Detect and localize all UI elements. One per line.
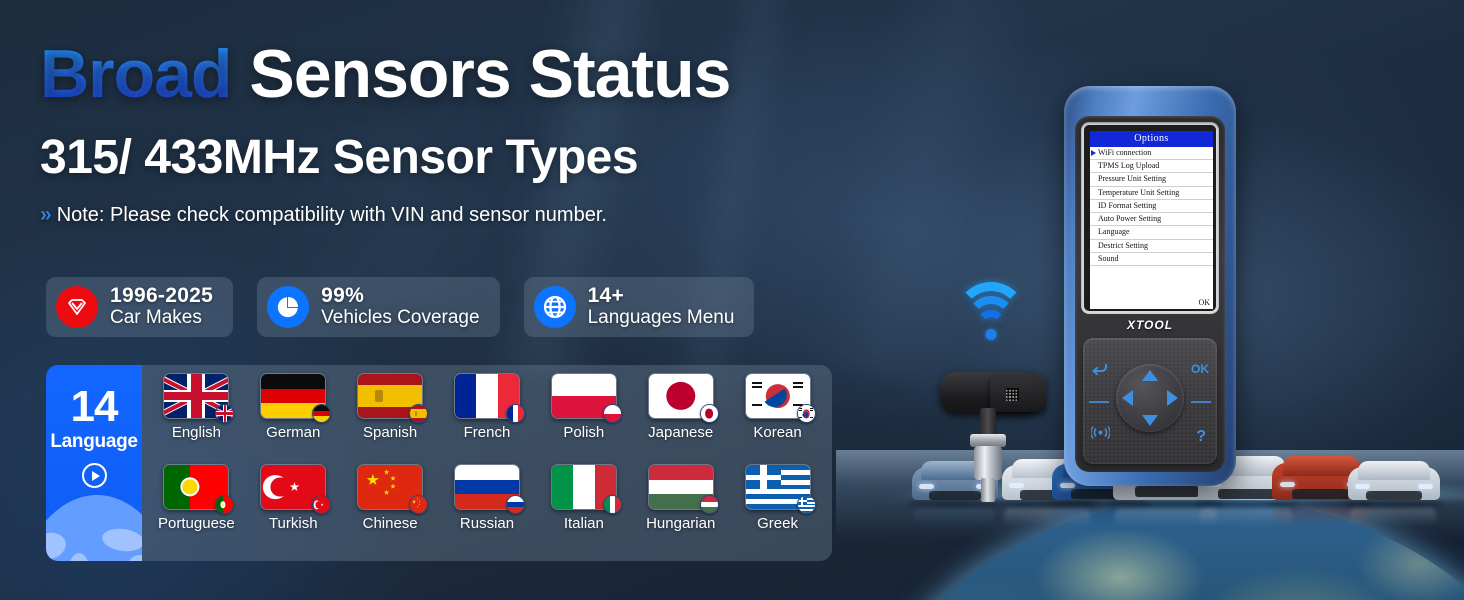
- flag-badge-icon: [700, 495, 719, 514]
- flag-badge-icon: [797, 495, 816, 514]
- language-item-greek[interactable]: Greek: [729, 464, 826, 555]
- language-item-korean[interactable]: Korean: [729, 373, 826, 464]
- badge-label: Languages Menu: [588, 308, 735, 329]
- note-text: Note: Please check compatibility with VI…: [57, 204, 607, 227]
- back-button-icon[interactable]: [1091, 362, 1108, 379]
- flag-badge-icon: [797, 404, 816, 423]
- car-image: [1348, 458, 1440, 512]
- promo-banner: Broad Sensors Status 315/ 433MHz Sensor …: [0, 0, 1464, 600]
- language-item-english[interactable]: English: [148, 373, 245, 464]
- language-label: Spanish: [363, 424, 417, 441]
- tpms-tool-device: Options WiFi connectionTPMS Log UploadPr…: [1064, 86, 1236, 486]
- language-label: Japanese: [648, 424, 713, 441]
- badge-languages-menu: 14+ Languages Menu: [524, 277, 755, 337]
- badge-car-makes: 1996-2025 Car Makes: [46, 277, 233, 337]
- flag-badge-icon: [215, 495, 234, 514]
- device-screen: Options WiFi connectionTPMS Log UploadPr…: [1084, 125, 1216, 311]
- language-item-russian[interactable]: Russian: [439, 464, 536, 555]
- language-item-german[interactable]: German: [245, 373, 342, 464]
- language-label: Italian: [564, 515, 604, 532]
- screen-bezel: Options WiFi connectionTPMS Log UploadPr…: [1081, 122, 1219, 314]
- screen-title: Options: [1090, 131, 1213, 147]
- pie-chart-icon: [267, 286, 309, 328]
- page-title: Broad Sensors Status: [40, 40, 730, 108]
- menu-item[interactable]: Sound: [1090, 253, 1213, 266]
- headline-rest: Sensors Status: [231, 36, 730, 112]
- menu-item[interactable]: Auto Power Setting: [1090, 213, 1213, 226]
- globe-graphic: [46, 495, 142, 561]
- keypad-divider: [1089, 401, 1109, 403]
- language-item-french[interactable]: French: [439, 373, 536, 464]
- language-item-chinese[interactable]: Chinese: [342, 464, 439, 555]
- language-label: Chinese: [363, 515, 418, 532]
- flag-badge-icon: [603, 495, 622, 514]
- device-face: Options WiFi connectionTPMS Log UploadPr…: [1075, 116, 1225, 472]
- flag-badge-icon: [409, 404, 428, 423]
- flag-badge-icon: [312, 404, 331, 423]
- dpad-down-icon[interactable]: [1142, 415, 1158, 426]
- ok-button[interactable]: OK: [1191, 362, 1209, 376]
- menu-item[interactable]: WiFi connection: [1090, 147, 1213, 160]
- language-label: Polish: [563, 424, 604, 441]
- dpad-up-icon[interactable]: [1142, 370, 1158, 381]
- menu-item[interactable]: Language: [1090, 226, 1213, 239]
- dpad-right-icon[interactable]: [1167, 390, 1178, 406]
- device-brand-logo: XTOOL: [1075, 318, 1225, 332]
- badge-value: 99%: [321, 285, 479, 308]
- language-item-turkish[interactable]: Turkish: [245, 464, 342, 555]
- language-count-panel: 14 Language: [46, 365, 142, 561]
- language-count-label: Language: [50, 431, 137, 453]
- language-item-japanese[interactable]: Japanese: [632, 373, 729, 464]
- diamond-shield-icon: [56, 286, 98, 328]
- feature-badges: 1996-2025 Car Makes 99% Vehicles Coverag…: [46, 277, 754, 337]
- menu-item[interactable]: Temperature Unit Setting: [1090, 187, 1213, 200]
- menu-item[interactable]: ID Format Setting: [1090, 200, 1213, 213]
- double-chevron-icon: »: [40, 203, 48, 227]
- device-keypad: OK ?: [1083, 338, 1217, 464]
- language-item-hungarian[interactable]: Hungarian: [632, 464, 729, 555]
- language-count: 14: [71, 385, 118, 429]
- note-line: » Note: Please check compatibility with …: [40, 203, 607, 227]
- language-label: German: [266, 424, 320, 441]
- screen-softkey-ok[interactable]: OK: [1090, 297, 1213, 309]
- page-subtitle: 315/ 433MHz Sensor Types: [40, 134, 638, 182]
- language-panel: 14 Language English: [46, 365, 832, 561]
- badge-label: Car Makes: [110, 308, 213, 329]
- badge-vehicle-coverage: 99% Vehicles Coverage: [257, 277, 499, 337]
- flag-badge-icon: [506, 495, 525, 514]
- flag-badge-icon: [215, 404, 234, 423]
- tpms-sensor-image: [940, 372, 1050, 504]
- menu-item[interactable]: Pressure Unit Setting: [1090, 173, 1213, 186]
- globe-icon: [534, 286, 576, 328]
- flag-badge-icon: [603, 404, 622, 423]
- dpad[interactable]: [1116, 364, 1184, 432]
- language-label: Russian: [460, 515, 514, 532]
- language-label: Portuguese: [158, 515, 235, 532]
- language-label: English: [172, 424, 221, 441]
- language-label: Turkish: [269, 515, 318, 532]
- dpad-left-icon[interactable]: [1122, 390, 1133, 406]
- language-item-italian[interactable]: Italian: [535, 464, 632, 555]
- flag-badge-icon: [312, 495, 331, 514]
- wifi-signal-icon: [955, 282, 1027, 342]
- keypad-divider: [1191, 401, 1211, 403]
- language-item-portuguese[interactable]: Portuguese: [148, 464, 245, 555]
- language-label: Hungarian: [646, 515, 715, 532]
- options-menu[interactable]: WiFi connectionTPMS Log UploadPressure U…: [1090, 147, 1213, 297]
- signal-button-icon[interactable]: [1091, 426, 1110, 442]
- language-label: Korean: [753, 424, 801, 441]
- flag-badge-icon: [700, 404, 719, 423]
- language-item-spanish[interactable]: Spanish: [342, 373, 439, 464]
- language-item-polish[interactable]: Polish: [535, 373, 632, 464]
- help-button[interactable]: ?: [1196, 428, 1206, 446]
- menu-item[interactable]: Destrict Setting: [1090, 240, 1213, 253]
- language-label: French: [464, 424, 511, 441]
- flag-badge-icon: [409, 495, 428, 514]
- language-grid: English German Spanish French Polish Jap…: [142, 365, 832, 561]
- badge-value: 1996-2025: [110, 285, 213, 308]
- qr-code-label: [1006, 388, 1019, 401]
- flag-badge-icon: [506, 404, 525, 423]
- headline-highlight: Broad: [40, 36, 231, 112]
- play-icon[interactable]: [82, 463, 107, 488]
- language-label: Greek: [757, 515, 798, 532]
- badge-value: 14+: [588, 285, 735, 308]
- menu-item[interactable]: TPMS Log Upload: [1090, 160, 1213, 173]
- badge-label: Vehicles Coverage: [321, 308, 479, 329]
